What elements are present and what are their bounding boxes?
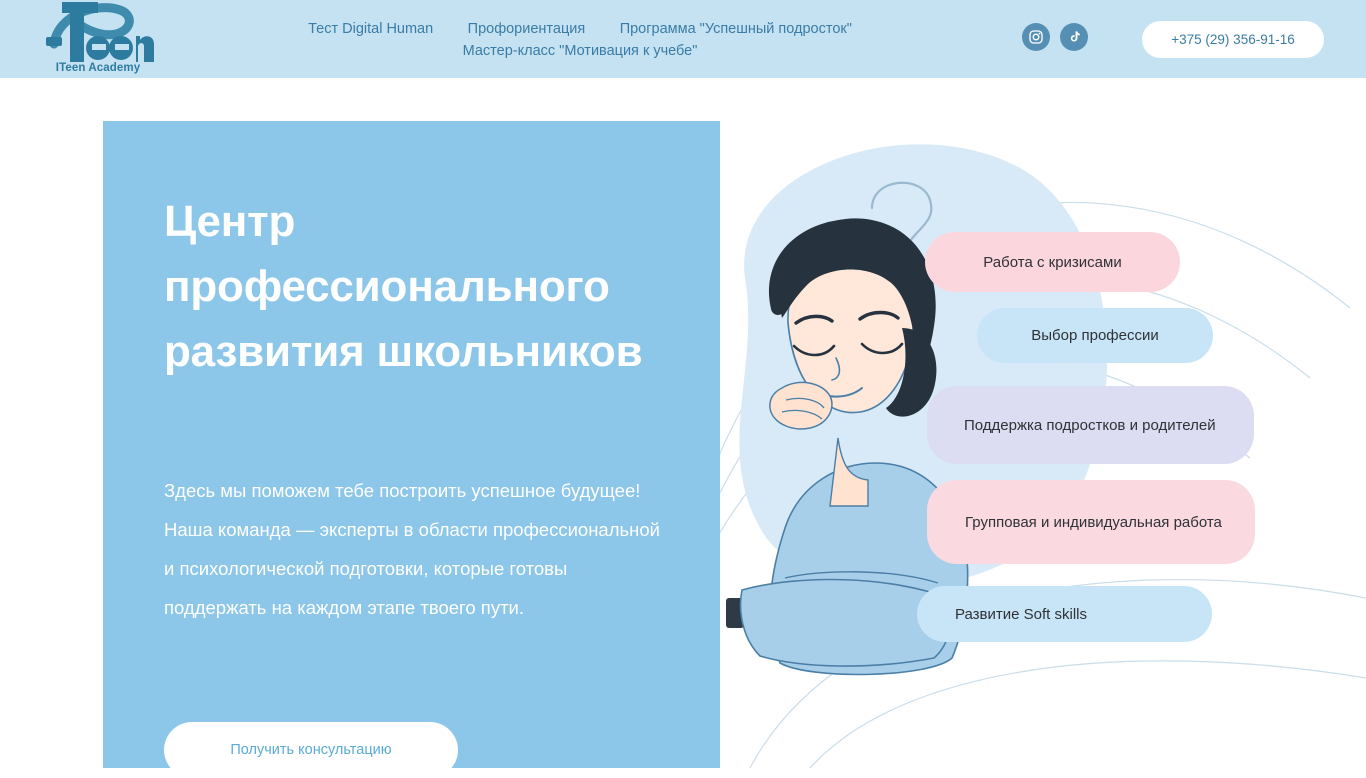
instagram-link[interactable]: [1022, 23, 1050, 51]
card-group-individual-work[interactable]: Групповая и индивидуальная работа: [927, 480, 1255, 564]
get-consultation-button[interactable]: Получить консультацию: [164, 722, 458, 778]
hero-panel: Центр профессионального развития школьни…: [103, 121, 720, 768]
tiktok-icon: [1067, 29, 1082, 45]
site-header: ITeen Academy Тест Digital Human Профори…: [0, 0, 1366, 78]
logo[interactable]: ITeen Academy: [36, 0, 160, 78]
card-label: Поддержка подростков и родителей: [964, 412, 1216, 439]
phone-button[interactable]: +375 (29) 356-91-16: [1142, 21, 1324, 58]
card-career-choice[interactable]: Выбор профессии: [977, 308, 1213, 363]
nav-test-digital-human[interactable]: Тест Digital Human: [308, 18, 433, 40]
card-label: Выбор профессии: [1031, 322, 1158, 349]
tiktok-link[interactable]: [1060, 23, 1088, 51]
card-label: Групповая и индивидуальная работа: [965, 509, 1222, 536]
card-label: Работа с кризисами: [983, 249, 1121, 276]
card-crisis-work[interactable]: Работа с кризисами: [925, 232, 1180, 292]
logo-wordmark: ITeen Academy: [36, 62, 160, 74]
nav-proforientation[interactable]: Профориентация: [468, 18, 586, 40]
page-title: Центр профессионального развития школьни…: [164, 189, 684, 384]
nav-masterclass-motivation[interactable]: Мастер-класс "Мотивация к учебе": [463, 40, 698, 62]
main-navigation: Тест Digital Human Профориентация Програ…: [270, 18, 890, 62]
social-links: [1022, 23, 1088, 51]
card-teen-parent-support[interactable]: Поддержка подростков и родителей: [927, 386, 1254, 464]
hero-subtitle: Здесь мы поможем тебе построить успешное…: [164, 471, 664, 627]
card-soft-skills[interactable]: Развитие Soft skills: [917, 586, 1212, 642]
instagram-icon: [1028, 29, 1044, 45]
nav-program-successful-teen[interactable]: Программа "Успешный подросток": [620, 18, 852, 40]
card-label: Развитие Soft skills: [955, 601, 1087, 628]
